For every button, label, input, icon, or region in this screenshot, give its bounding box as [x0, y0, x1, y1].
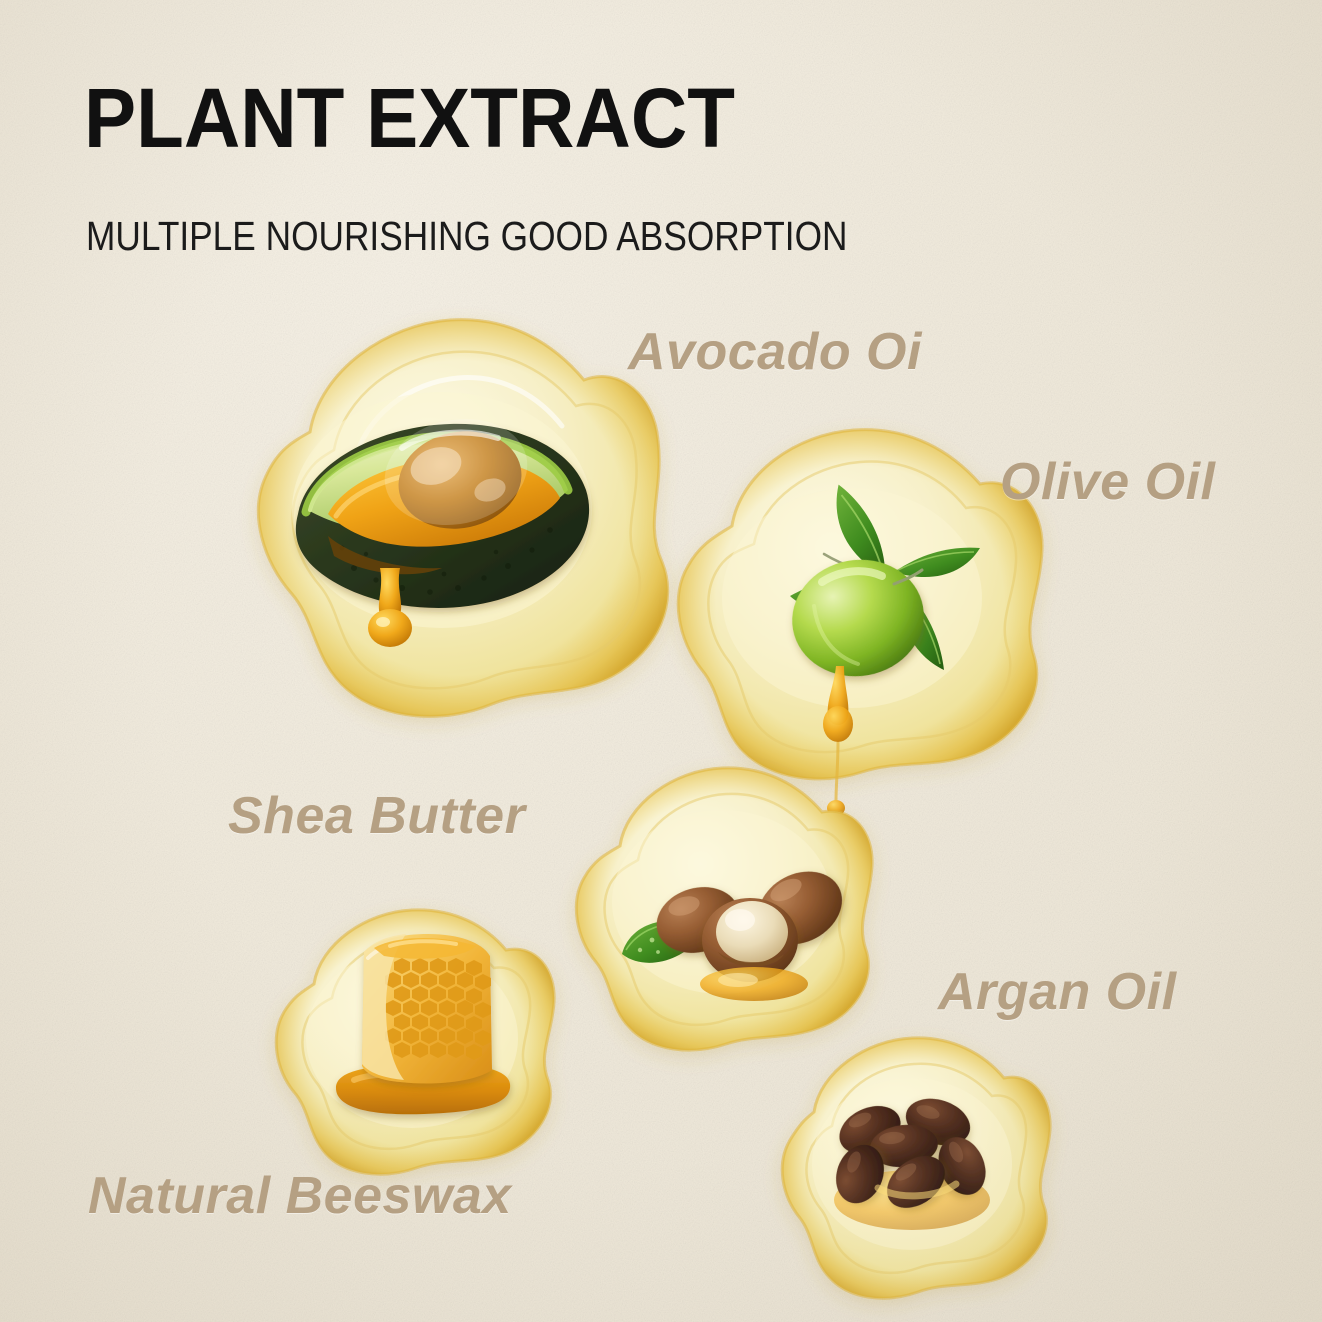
ingredient-label-argan: Argan Oil [938, 962, 1177, 1022]
ingredient-label-avocado: Avocado Oi [628, 322, 922, 382]
ingredient-label-shea: Shea Butter [228, 786, 525, 846]
ingredient-blob-beeswax [248, 892, 568, 1192]
page-subtitle: MULTIPLE NOURISHING GOOD ABSORPTION [86, 216, 847, 257]
ingredient-blob-olive [640, 408, 1060, 808]
ingredient-blob-shea [548, 750, 888, 1060]
page-title: PLANT EXTRACT [84, 76, 735, 160]
ingredient-blob-avocado [192, 300, 692, 740]
ingredient-label-beeswax: Natural Beeswax [88, 1166, 512, 1226]
promo-banner: PLANT EXTRACT MULTIPLE NOURISHING GOOD A… [0, 0, 1322, 1322]
ingredient-blob-argan [752, 1022, 1062, 1312]
ingredient-label-olive: Olive Oil [1000, 452, 1215, 512]
ingredient-blob-layer [0, 0, 1322, 1322]
